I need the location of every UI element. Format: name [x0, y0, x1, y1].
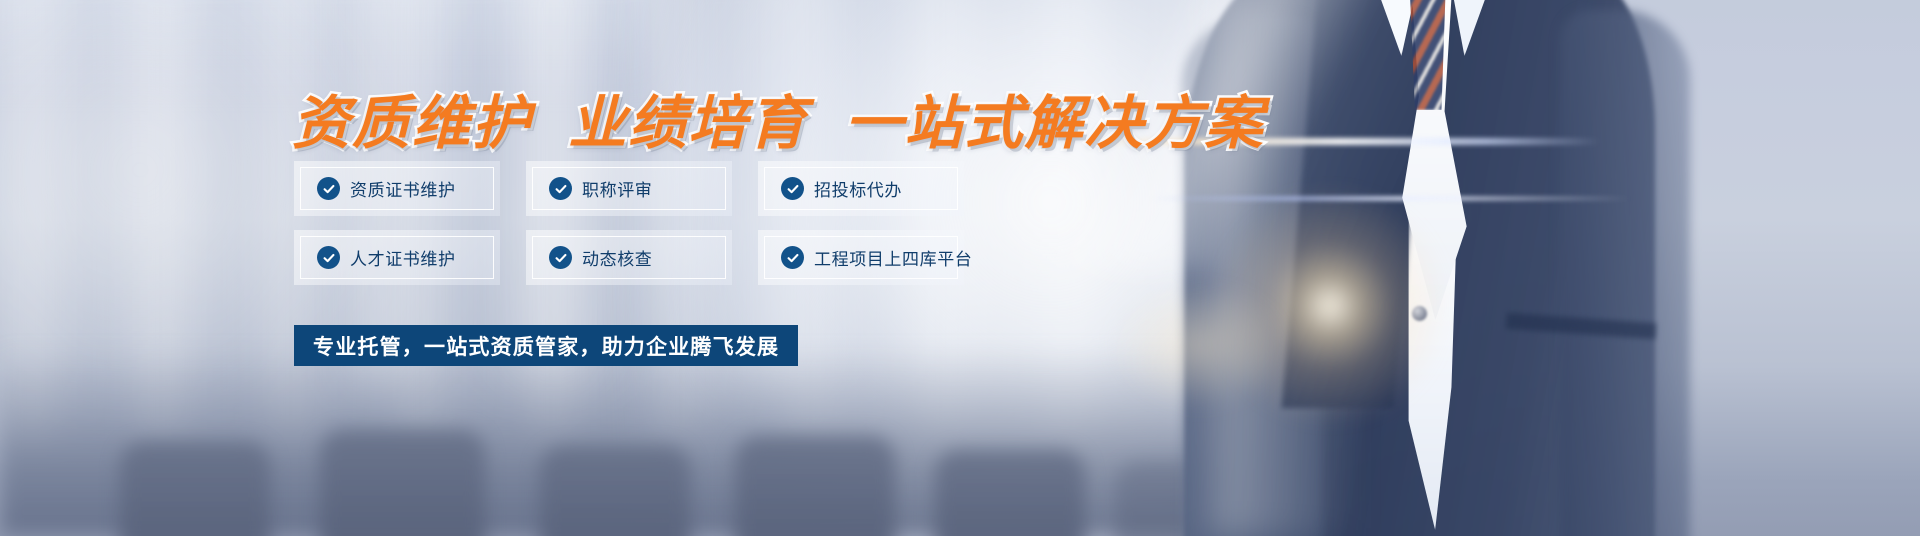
check-circle-icon [549, 177, 572, 200]
feature-box-qualification-certificate[interactable]: 资质证书维护 [294, 161, 500, 216]
promotional-banner: 资质维护 业绩培育 一站式解决方案 资质证书维护 [0, 0, 1920, 536]
feature-box-title-evaluation[interactable]: 职称评审 [526, 161, 732, 216]
banner-content: 资质维护 业绩培育 一站式解决方案 资质证书维护 [0, 0, 1920, 536]
feature-label: 工程项目上四库平台 [814, 245, 972, 270]
feature-label: 职称评审 [582, 176, 652, 201]
check-circle-icon [549, 246, 572, 269]
banner-headline: 资质维护 业绩培育 一站式解决方案 [292, 76, 1264, 160]
feature-label: 招投标代办 [814, 176, 902, 201]
feature-box-dynamic-inspection[interactable]: 动态核查 [526, 230, 732, 285]
check-circle-icon [781, 246, 804, 269]
tagline-text: 专业托管，一站式资质管家，助力企业腾飞发展 [313, 331, 779, 361]
feature-row: 资质证书维护 职称评审 [294, 161, 964, 216]
check-circle-icon [781, 177, 804, 200]
feature-label: 资质证书维护 [350, 176, 456, 201]
tagline-bar: 专业托管，一站式资质管家，助力企业腾飞发展 [294, 325, 798, 366]
feature-box-talent-certificate[interactable]: 人才证书维护 [294, 230, 500, 285]
check-circle-icon [317, 246, 340, 269]
feature-label: 人才证书维护 [350, 245, 456, 270]
check-circle-icon [317, 177, 340, 200]
feature-box-bidding-agency[interactable]: 招投标代办 [758, 161, 964, 216]
feature-box-grid: 资质证书维护 职称评审 [294, 161, 964, 299]
feature-row: 人才证书维护 动态核查 [294, 230, 964, 285]
feature-box-four-library-platform[interactable]: 工程项目上四库平台 [758, 230, 964, 285]
feature-label: 动态核查 [582, 245, 652, 270]
